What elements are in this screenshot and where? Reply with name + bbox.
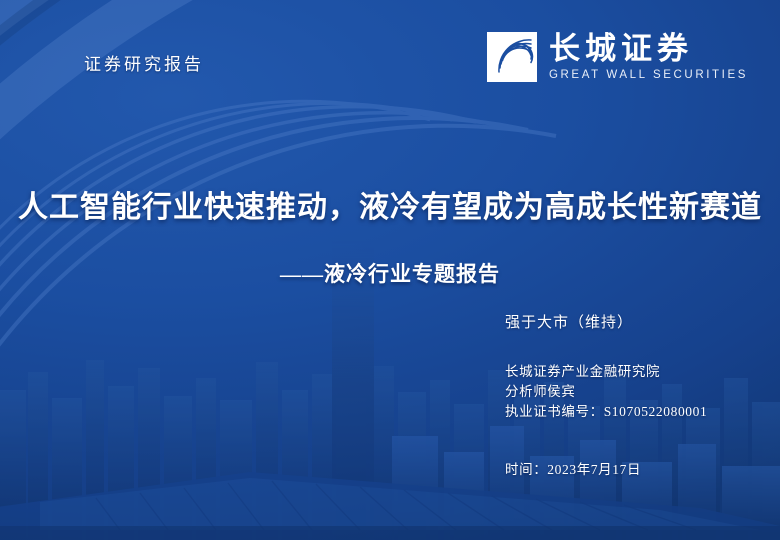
logo-name-cn: 长城证券 — [549, 33, 748, 64]
analyst-license: 执业证书编号：S1070522080001 — [505, 402, 707, 422]
analyst-name: 分析师侯宾 — [505, 382, 707, 402]
analyst-info-block: 长城证券产业金融研究院 分析师侯宾 执业证书编号：S1070522080001 — [505, 362, 707, 422]
page-title: 人工智能行业快速推动，液冷有望成为高成长性新赛道 — [0, 182, 780, 226]
great-wall-fan-emblem-icon — [487, 32, 537, 82]
logo-name-en: GREAT WALL SECURITIES — [549, 70, 748, 82]
page-subtitle: ——液冷行业专题报告 — [0, 258, 780, 288]
report-type-tag: 证券研究报告 — [84, 50, 204, 75]
company-logo: 长城证券 GREAT WALL SECURITIES — [487, 32, 748, 82]
publish-date: 时间：2023年7月17日 — [505, 458, 641, 478]
report-cover-page: 证券研究报告 长城证券 GREAT WALL SECURITIES — [0, 0, 780, 540]
rating-badge: 强于大市（维持） — [505, 311, 633, 332]
analyst-institute: 长城证券产业金融研究院 — [505, 362, 707, 382]
